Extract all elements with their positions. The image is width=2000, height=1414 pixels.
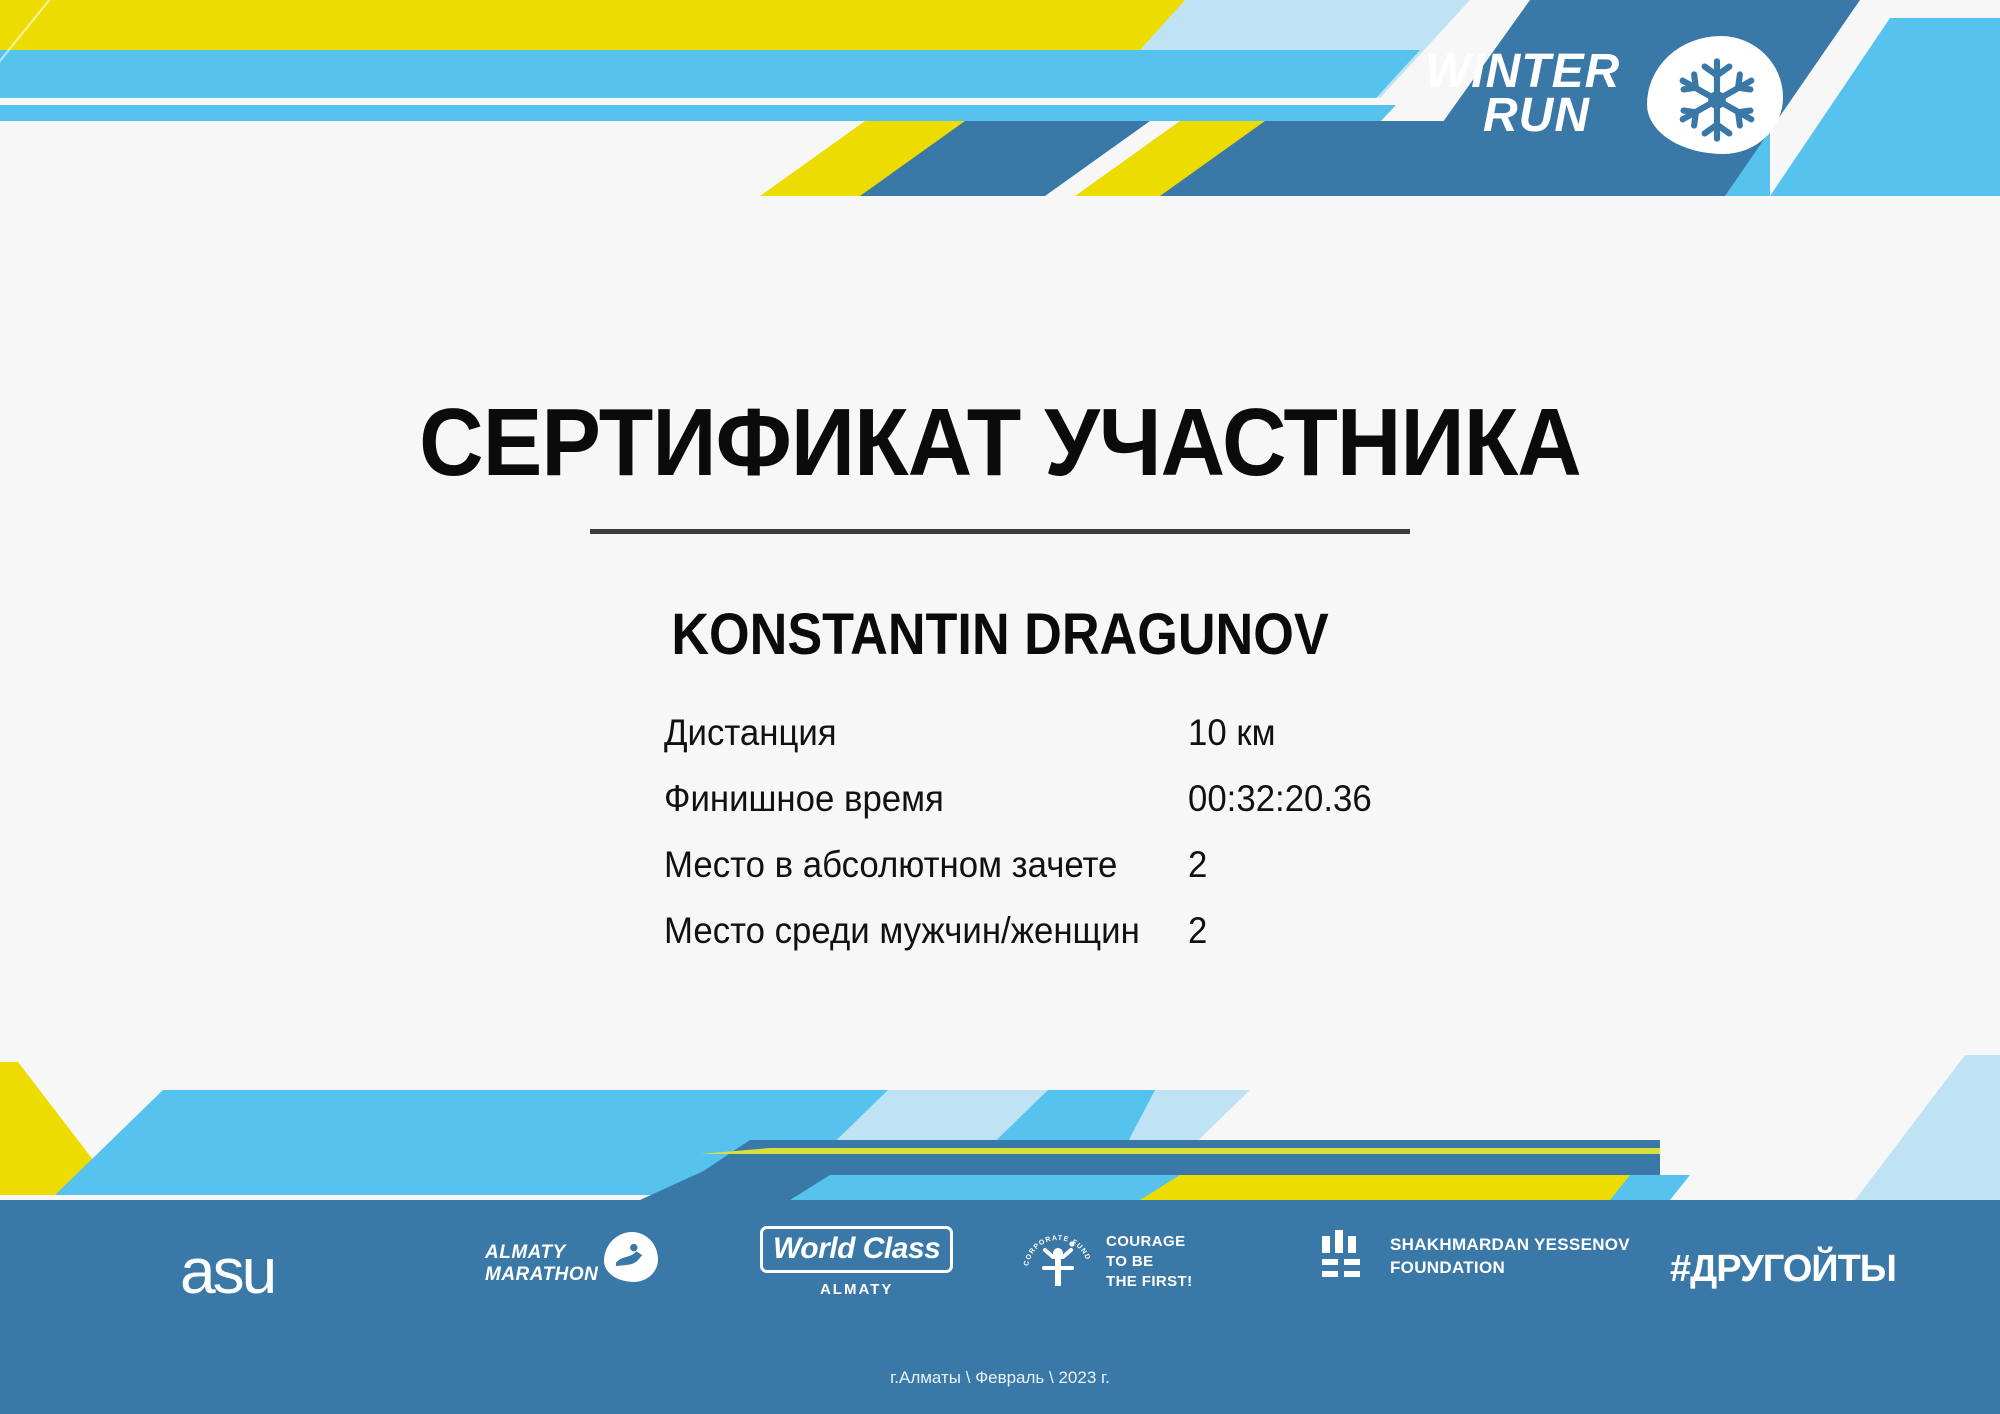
world-class-name: World Class [773, 1232, 940, 1265]
bottom-yellow-lower-band [1140, 1175, 1630, 1200]
table-row: Финишное время 00:32:20.36 [664, 778, 1383, 820]
logo-winter-text: WINTER [1425, 50, 1620, 94]
page-title: СЕРТИФИКАТ УЧАСТНИКА [70, 388, 1930, 498]
logo-run-text: RUN [1483, 94, 1590, 138]
corporate-fund-line2: TO BE [1106, 1252, 1193, 1272]
fact-value-finish-time: 00:32:20.36 [1188, 778, 1372, 820]
top-white-hairline [0, 98, 1400, 105]
place-and-date: г.Алматы \ Февраль \ 2023 г. [0, 1368, 2000, 1388]
participant-name: KONSTANTIN DRAGUNOV [100, 601, 1900, 668]
title-divider [590, 529, 1410, 534]
fact-label-gender-place: Место среди мужчин/женщин [664, 910, 1157, 952]
top-blue-band [0, 50, 1420, 98]
sponsor-yessenov-foundation-logo: SHAKHMARDAN YESSENOV FOUNDATION [1320, 1230, 1630, 1284]
runner-icon [612, 1242, 650, 1270]
footer-bar: asu ALMATY MARATHON World Class [0, 1200, 2000, 1414]
result-details-table: Дистанция 10 км Финишное время 00:32:20.… [664, 712, 1383, 976]
table-row: Место в абсолютном зачете 2 [664, 844, 1383, 886]
sponsor-asu-logo: asu [180, 1234, 274, 1308]
snowflake-icon [1673, 56, 1761, 144]
asu-text: asu [180, 1235, 274, 1307]
table-row: Место среди мужчин/женщин 2 [664, 910, 1383, 952]
sponsor-corporate-fund-logo: CORPORATE FUND COURAGE TO BE THE FIRST! [1020, 1224, 1193, 1300]
sponsor-hashtag-logo: #ДРУГОЙТЫ [1670, 1248, 1896, 1291]
sponsor-world-class-logo: World Class ALMATY [760, 1226, 953, 1298]
yessenov-line1: SHAKHMARDAN YESSENOV [1390, 1234, 1630, 1257]
fact-value-overall-place: 2 [1188, 844, 1207, 886]
fact-label-distance: Дистанция [664, 712, 1157, 754]
sponsor-logo-row: asu ALMATY MARATHON World Class [0, 1200, 2000, 1350]
almaty-marathon-blob [604, 1232, 658, 1282]
bottom-yellow-hairline [700, 1148, 1660, 1154]
certificate-page: WINTER RUN СЕРТИФИКАТ УЧАСТНИКА KONSTANT… [0, 0, 2000, 1414]
fact-value-gender-place: 2 [1188, 910, 1207, 952]
fact-label-overall-place: Место в абсолютном зачете [664, 844, 1157, 886]
raised-arms-figure-icon: CORPORATE FUND [1020, 1224, 1096, 1300]
world-class-city: ALMATY [760, 1281, 953, 1298]
winter-run-logo: WINTER RUN [1425, 38, 1805, 156]
bottom-right-pale-wedge [1855, 1055, 2000, 1200]
corporate-fund-line1: COURAGE [1106, 1232, 1193, 1252]
bars-mark-icon [1320, 1230, 1372, 1284]
almaty-marathon-line1: ALMATY [485, 1242, 598, 1264]
fact-value-distance: 10 км [1188, 712, 1275, 754]
fact-label-finish-time: Финишное время [664, 778, 1157, 820]
almaty-marathon-line2: MARATHON [485, 1264, 598, 1286]
corporate-fund-mark: CORPORATE FUND [1020, 1224, 1096, 1300]
sponsor-almaty-marathon-logo: ALMATY MARATHON [485, 1232, 658, 1296]
world-class-box: World Class [760, 1226, 953, 1273]
top-blue-thin-band [0, 105, 1396, 121]
table-row: Дистанция 10 км [664, 712, 1383, 754]
corporate-fund-line3: THE FIRST! [1106, 1272, 1193, 1292]
yessenov-line2: FOUNDATION [1390, 1257, 1630, 1280]
